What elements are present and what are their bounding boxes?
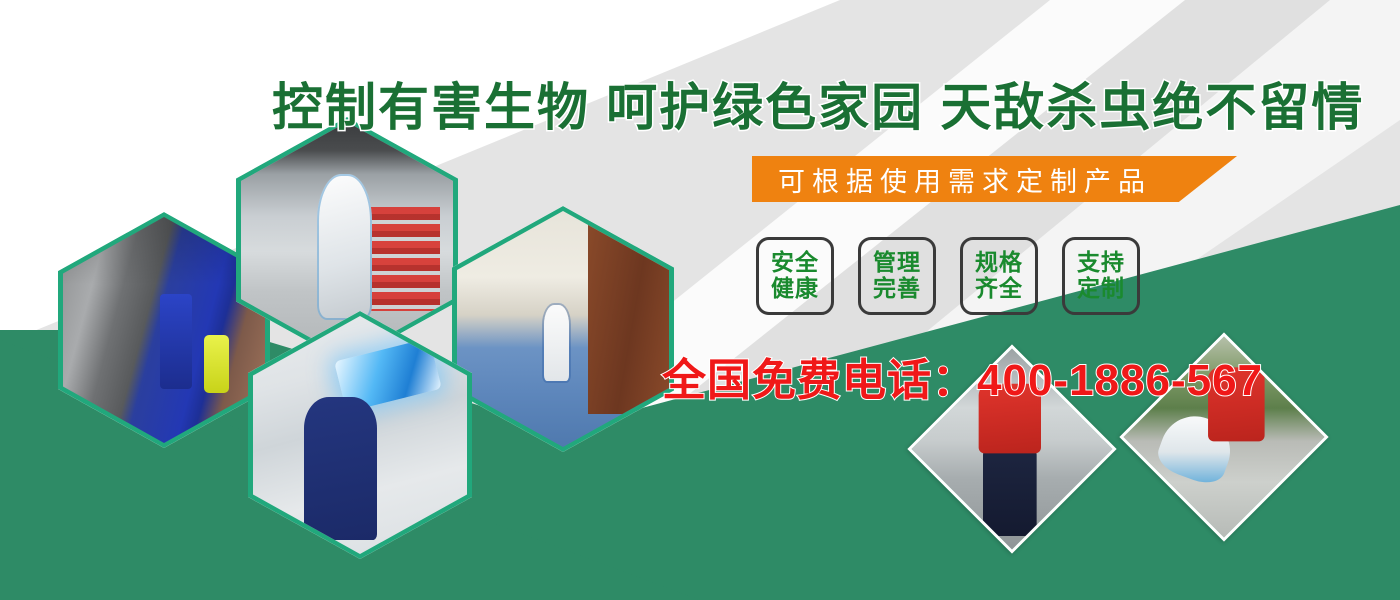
badge-management[interactable]: 管理 完善 — [858, 237, 936, 315]
feature-badge-group: 安全 健康 管理 完善 规格 齐全 支持 定制 — [756, 237, 1140, 315]
badge-specifications[interactable]: 规格 齐全 — [960, 237, 1038, 315]
customization-ribbon-label: 可根据使用需求定制产品 — [752, 160, 1152, 199]
badge-line-2: 齐全 — [975, 276, 1023, 302]
badge-line-2: 定制 — [1077, 276, 1125, 302]
badge-line-1: 安全 — [771, 250, 819, 276]
badge-line-1: 管理 — [873, 250, 921, 276]
pest-control-promo-banner: 控制有害生物 呵护绿色家园 天敌杀虫绝不留情 可根据使用需求定制产品 安全 健康… — [0, 0, 1400, 600]
customization-ribbon: 可根据使用需求定制产品 — [752, 156, 1237, 202]
toll-free-phone-line[interactable]: 全国免费电话：400-1886-567 — [662, 344, 1263, 408]
badge-line-2: 完善 — [873, 276, 921, 302]
badge-line-1: 规格 — [975, 250, 1023, 276]
badge-line-2: 健康 — [771, 276, 819, 302]
headline-slogan: 控制有害生物 呵护绿色家园 天敌杀虫绝不留情 — [272, 66, 1364, 140]
badge-safety-health[interactable]: 安全 健康 — [756, 237, 834, 315]
badge-line-1: 支持 — [1077, 250, 1125, 276]
badge-customization[interactable]: 支持 定制 — [1062, 237, 1140, 315]
